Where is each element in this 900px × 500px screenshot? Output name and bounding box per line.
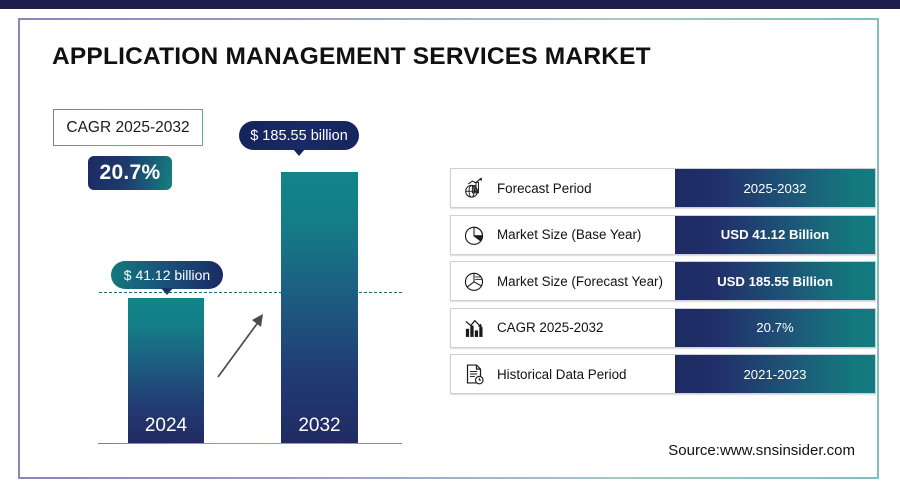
- pie-chart-icon: [457, 218, 491, 252]
- globe-growth-chart-icon: [457, 171, 491, 205]
- table-label: Market Size (Base Year): [497, 227, 641, 242]
- bar-2032: 2032: [281, 172, 358, 443]
- table-row: Market Size (Forecast Year) USD 185.55 B…: [450, 261, 876, 301]
- document-clock-icon: [457, 357, 491, 391]
- table-label-cell: Forecast Period: [451, 169, 675, 207]
- bar-2024: 2024: [128, 298, 204, 443]
- table-label: Market Size (Forecast Year): [497, 274, 663, 289]
- table-value-cell: 2025-2032: [675, 169, 875, 207]
- table-value-cell: 2021-2023: [675, 355, 875, 393]
- page-frame-inner: APPLICATION MANAGEMENT SERVICES MARKET C…: [20, 20, 877, 477]
- table-row: Forecast Period 2025-2032: [450, 168, 876, 208]
- table-value: USD 185.55 Billion: [717, 274, 833, 289]
- chart-baseline-axis: [98, 443, 402, 445]
- table-value-cell: USD 185.55 Billion: [675, 262, 875, 300]
- table-label-cell: Market Size (Forecast Year): [451, 262, 675, 300]
- table-value: 2025-2032: [743, 181, 806, 196]
- table-value: 2021-2023: [743, 367, 806, 382]
- table-row: Historical Data Period 2021-2023: [450, 354, 876, 394]
- table-label-cell: CAGR 2025-2032: [451, 309, 675, 347]
- table-label-cell: Market Size (Base Year): [451, 216, 675, 254]
- growth-arrow-icon: [210, 305, 280, 385]
- table-label: Historical Data Period: [497, 367, 627, 382]
- bar-label-2024: 2024: [128, 415, 204, 437]
- table-label: Forecast Period: [497, 181, 592, 196]
- bar-label-2032: 2032: [281, 415, 358, 437]
- top-accent-bar: [0, 0, 900, 9]
- table-row: Market Size (Base Year) USD 41.12 Billio…: [450, 215, 876, 255]
- value-callout-2024-text: $ 41.12 billion: [124, 267, 210, 283]
- callout-pointer-icon: [293, 149, 305, 156]
- source-attribution: Source:www.snsinsider.com: [668, 442, 855, 459]
- table-label-cell: Historical Data Period: [451, 355, 675, 393]
- market-summary-table: Forecast Period 2025-2032: [450, 168, 876, 401]
- table-value-cell: USD 41.12 Billion: [675, 216, 875, 254]
- bar-chart: $ 185.55 billion $ 41.12 billion 2024 20…: [20, 20, 420, 460]
- value-callout-2032-text: $ 185.55 billion: [250, 128, 348, 144]
- page-frame: APPLICATION MANAGEMENT SERVICES MARKET C…: [18, 18, 879, 479]
- table-value: 20.7%: [756, 320, 793, 335]
- table-label: CAGR 2025-2032: [497, 320, 603, 335]
- table-row: CAGR 2025-2032 20.7%: [450, 308, 876, 348]
- bar-chart-trend-icon: [457, 311, 491, 345]
- value-callout-2024: $ 41.12 billion: [111, 261, 223, 289]
- table-value: USD 41.12 Billion: [721, 227, 829, 242]
- table-value-cell: 20.7%: [675, 309, 875, 347]
- value-callout-2032: $ 185.55 billion: [239, 121, 359, 150]
- exploded-pie-chart-icon: [457, 264, 491, 298]
